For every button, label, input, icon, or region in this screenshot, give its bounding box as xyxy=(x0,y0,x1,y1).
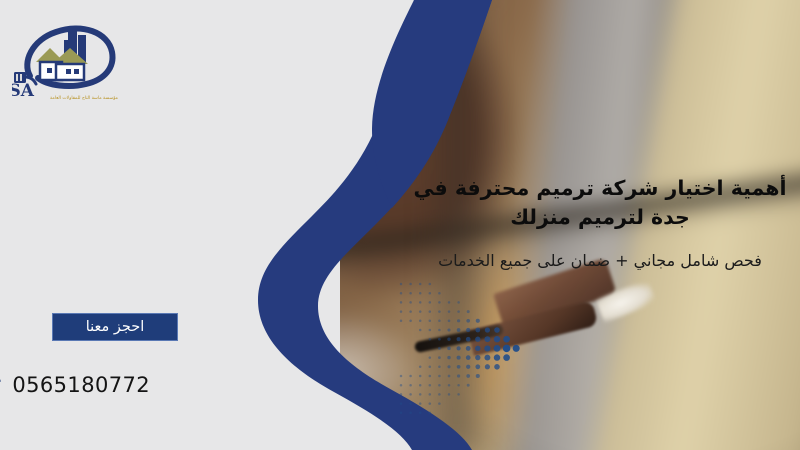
halftone-dot xyxy=(466,328,470,332)
halftone-dot xyxy=(429,338,432,341)
halftone-dot xyxy=(485,364,490,369)
halftone-dot xyxy=(438,366,441,369)
halftone-dot xyxy=(494,364,500,370)
halftone-dot xyxy=(447,365,450,368)
halftone-dot xyxy=(485,327,490,332)
halftone-dot xyxy=(503,354,510,361)
halftone-dot xyxy=(438,347,441,350)
halftone-dot xyxy=(409,301,412,304)
halftone-dot xyxy=(484,336,490,342)
halftone-dot xyxy=(466,319,470,323)
halftone-dot xyxy=(466,374,470,378)
halftone-dot xyxy=(429,402,432,405)
halftone-dot xyxy=(419,393,422,396)
halftone-dot xyxy=(419,283,422,286)
halftone-dot xyxy=(419,292,422,295)
halftone-dot xyxy=(448,310,451,313)
halftone-dot xyxy=(419,310,422,313)
book-with-us-button[interactable]: احجز معنا xyxy=(52,313,178,341)
halftone-dot xyxy=(457,393,460,396)
chevron-halftone-dots xyxy=(395,278,535,423)
halftone-dot xyxy=(448,384,451,387)
halftone-dot xyxy=(466,346,471,351)
halftone-dot xyxy=(409,393,412,396)
halftone-dot xyxy=(400,393,403,396)
phone-number[interactable]: 0565180772 xyxy=(12,373,150,397)
halftone-dot xyxy=(400,402,403,405)
halftone-dot xyxy=(466,355,471,360)
halftone-dot xyxy=(419,402,422,405)
halftone-dot xyxy=(438,402,441,405)
halftone-dot xyxy=(409,402,412,405)
halftone-dot xyxy=(429,292,432,295)
halftone-dot xyxy=(475,364,480,369)
halftone-dot xyxy=(429,283,432,286)
halftone-dot xyxy=(409,412,412,415)
halftone-dot xyxy=(429,384,432,387)
halftone-dot xyxy=(400,283,403,286)
halftone-dot xyxy=(448,301,451,304)
contact-phone-row[interactable]: 0565180772 xyxy=(0,371,150,399)
halftone-dot xyxy=(409,292,412,295)
halftone-dot xyxy=(475,355,480,360)
halftone-dot xyxy=(467,310,470,313)
halftone-dot xyxy=(438,320,441,323)
halftone-dot xyxy=(457,384,460,387)
halftone-dot xyxy=(429,301,432,304)
halftone-dot xyxy=(438,292,441,295)
halftone-dot xyxy=(467,384,470,387)
halftone-dot xyxy=(438,301,441,304)
el-masa-logo[interactable]: EL.MASA مؤسسة ماسة التاج للمقاولات العام… xyxy=(12,14,136,100)
halftone-dot xyxy=(457,346,461,350)
halftone-dot xyxy=(419,375,422,378)
halftone-dot xyxy=(447,347,451,351)
halftone-dot xyxy=(429,366,432,369)
halftone-dot xyxy=(494,336,500,342)
halftone-dot xyxy=(419,384,422,387)
halftone-dot xyxy=(475,337,480,342)
halftone-dot xyxy=(409,375,412,378)
halftone-dot xyxy=(484,345,490,351)
logo-tagline: مؤسسة ماسة التاج للمقاولات العامة xyxy=(34,96,134,101)
halftone-dot xyxy=(419,412,422,415)
halftone-dot xyxy=(503,336,510,343)
halftone-dot xyxy=(400,292,403,295)
halftone-dot xyxy=(457,328,461,332)
logo-wordmark: EL.MASA xyxy=(12,81,35,100)
halftone-dot xyxy=(438,356,441,359)
halftone-dot xyxy=(438,310,441,313)
halftone-dot xyxy=(409,384,412,387)
halftone-dot xyxy=(429,320,432,323)
halftone-dot xyxy=(400,301,403,304)
halftone-dot xyxy=(429,412,432,415)
halftone-dot xyxy=(400,375,403,378)
halftone-dot xyxy=(475,328,480,333)
halftone-dot xyxy=(419,301,422,304)
halftone-dot xyxy=(494,327,500,333)
halftone-dot xyxy=(447,356,450,359)
halftone-dot xyxy=(475,346,481,352)
halftone-dot xyxy=(429,356,432,359)
halftone-dot xyxy=(438,329,441,332)
page-title: أهمية اختيار شركة ترميم محترفة في جدة لت… xyxy=(400,174,800,232)
halftone-dot xyxy=(494,345,501,352)
halftone-dot xyxy=(400,384,403,387)
halftone-dot xyxy=(448,375,451,378)
halftone-dot xyxy=(457,374,460,377)
halftone-dot xyxy=(419,366,422,369)
subtitle: فحص شامل مجاني + ضمان على جميع الخدمات xyxy=(400,251,800,270)
halftone-dot xyxy=(457,337,461,341)
halftone-dot xyxy=(438,338,441,341)
halftone-dot xyxy=(484,355,490,361)
halftone-dot xyxy=(476,319,480,323)
halftone-dot xyxy=(448,319,451,322)
halftone-dot xyxy=(447,328,450,331)
halftone-dot xyxy=(429,393,432,396)
halftone-dot xyxy=(438,384,441,387)
halftone-dot xyxy=(438,393,441,396)
halftone-dot xyxy=(448,393,451,396)
halftone-dot xyxy=(457,356,461,360)
halftone-dot xyxy=(409,310,412,313)
halftone-dot xyxy=(466,337,471,342)
halftone-dot xyxy=(457,319,460,322)
halftone-dot xyxy=(419,329,422,332)
halftone-dot xyxy=(409,320,412,323)
promo-banner: EL.MASA مؤسسة ماسة التاج للمقاولات العام… xyxy=(0,0,800,450)
halftone-dot xyxy=(457,310,460,313)
halftone-dot xyxy=(503,345,510,352)
halftone-dot xyxy=(419,320,422,323)
halftone-dot xyxy=(457,301,460,304)
halftone-dot xyxy=(513,345,520,352)
halftone-dot xyxy=(494,354,500,360)
halftone-dot xyxy=(476,374,480,378)
halftone-dot xyxy=(400,412,403,415)
halftone-dot xyxy=(400,320,403,323)
halftone-dot xyxy=(429,329,432,332)
halftone-dot xyxy=(400,310,403,313)
halftone-dot xyxy=(457,365,461,369)
halftone-dot xyxy=(447,338,450,341)
halftone-dot xyxy=(466,365,470,369)
halftone-dot xyxy=(429,375,432,378)
phone-ringing-icon xyxy=(0,371,3,399)
content-layer: EL.MASA مؤسسة ماسة التاج للمقاولات العام… xyxy=(0,0,800,450)
halftone-dot xyxy=(438,375,441,378)
halftone-dot xyxy=(409,283,412,286)
halftone-dot xyxy=(429,310,432,313)
